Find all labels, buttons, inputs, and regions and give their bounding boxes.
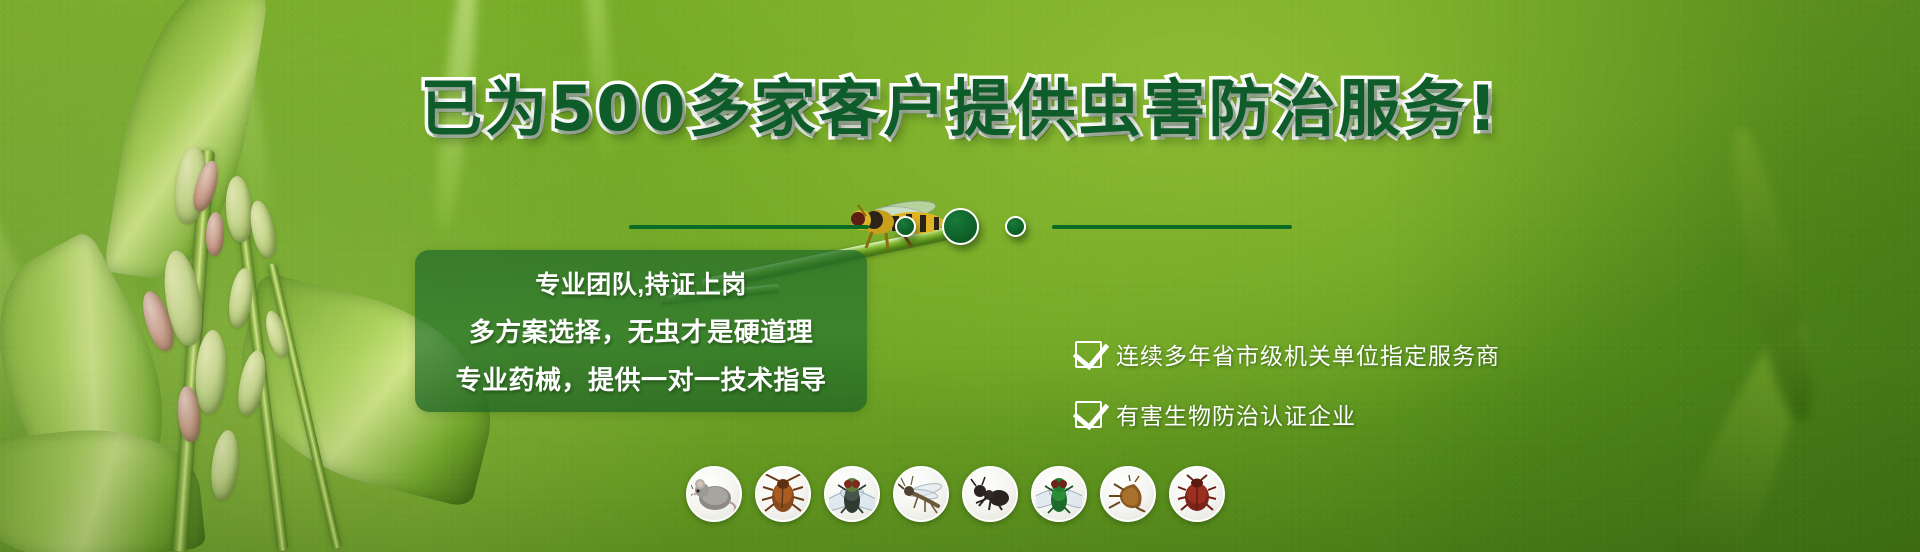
checklist-item: 连续多年省市级机关单位指定服务商 [1075, 337, 1500, 371]
checkbox-checked-icon [1075, 341, 1102, 368]
bedbug-icon[interactable] [1169, 466, 1225, 522]
divider-rule-right [1052, 225, 1292, 229]
checklist-item-label: 有害生物防治认证企业 [1116, 397, 1356, 431]
mouse-icon[interactable] [686, 466, 742, 522]
cockroach-icon[interactable] [755, 466, 811, 522]
panel-line-1: 专业团队,持证上岗 [535, 265, 746, 301]
banner-headline: 已为500多家客户提供虫害防治服务! [0, 78, 1920, 140]
checklist-item-label: 连续多年省市级机关单位指定服务商 [1116, 337, 1500, 371]
panel-line-2: 多方案选择，无虫才是硬道理 [469, 312, 814, 349]
divider-dot-small-left [895, 216, 916, 237]
divider-dot-small-right [1005, 216, 1026, 237]
credentials-checklist: 连续多年省市级机关单位指定服务商 有害生物防治认证企业 [1075, 337, 1500, 431]
panel-line-3: 专业药械，提供一对一技术指导 [455, 360, 826, 397]
divider-rule-left [629, 225, 869, 229]
pest-type-icon-row [686, 466, 1225, 522]
ant-icon[interactable] [962, 466, 1018, 522]
housefly-icon[interactable] [824, 466, 880, 522]
flea-icon[interactable] [1100, 466, 1156, 522]
greenbottle-fly-icon[interactable] [1031, 466, 1087, 522]
checklist-item: 有害生物防治认证企业 [1075, 397, 1500, 431]
decorative-divider [600, 208, 1320, 245]
pest-control-hero-banner: 已为500多家客户提供虫害防治服务! 专业团队,持证上岗 多方案选择，无虫才是硬… [0, 0, 1920, 552]
mosquito-icon[interactable] [893, 466, 949, 522]
selling-points-panel: 专业团队,持证上岗 多方案选择，无虫才是硬道理 专业药械，提供一对一技术指导 [415, 250, 867, 412]
checkbox-checked-icon [1075, 401, 1102, 428]
divider-dot-large [942, 208, 979, 245]
